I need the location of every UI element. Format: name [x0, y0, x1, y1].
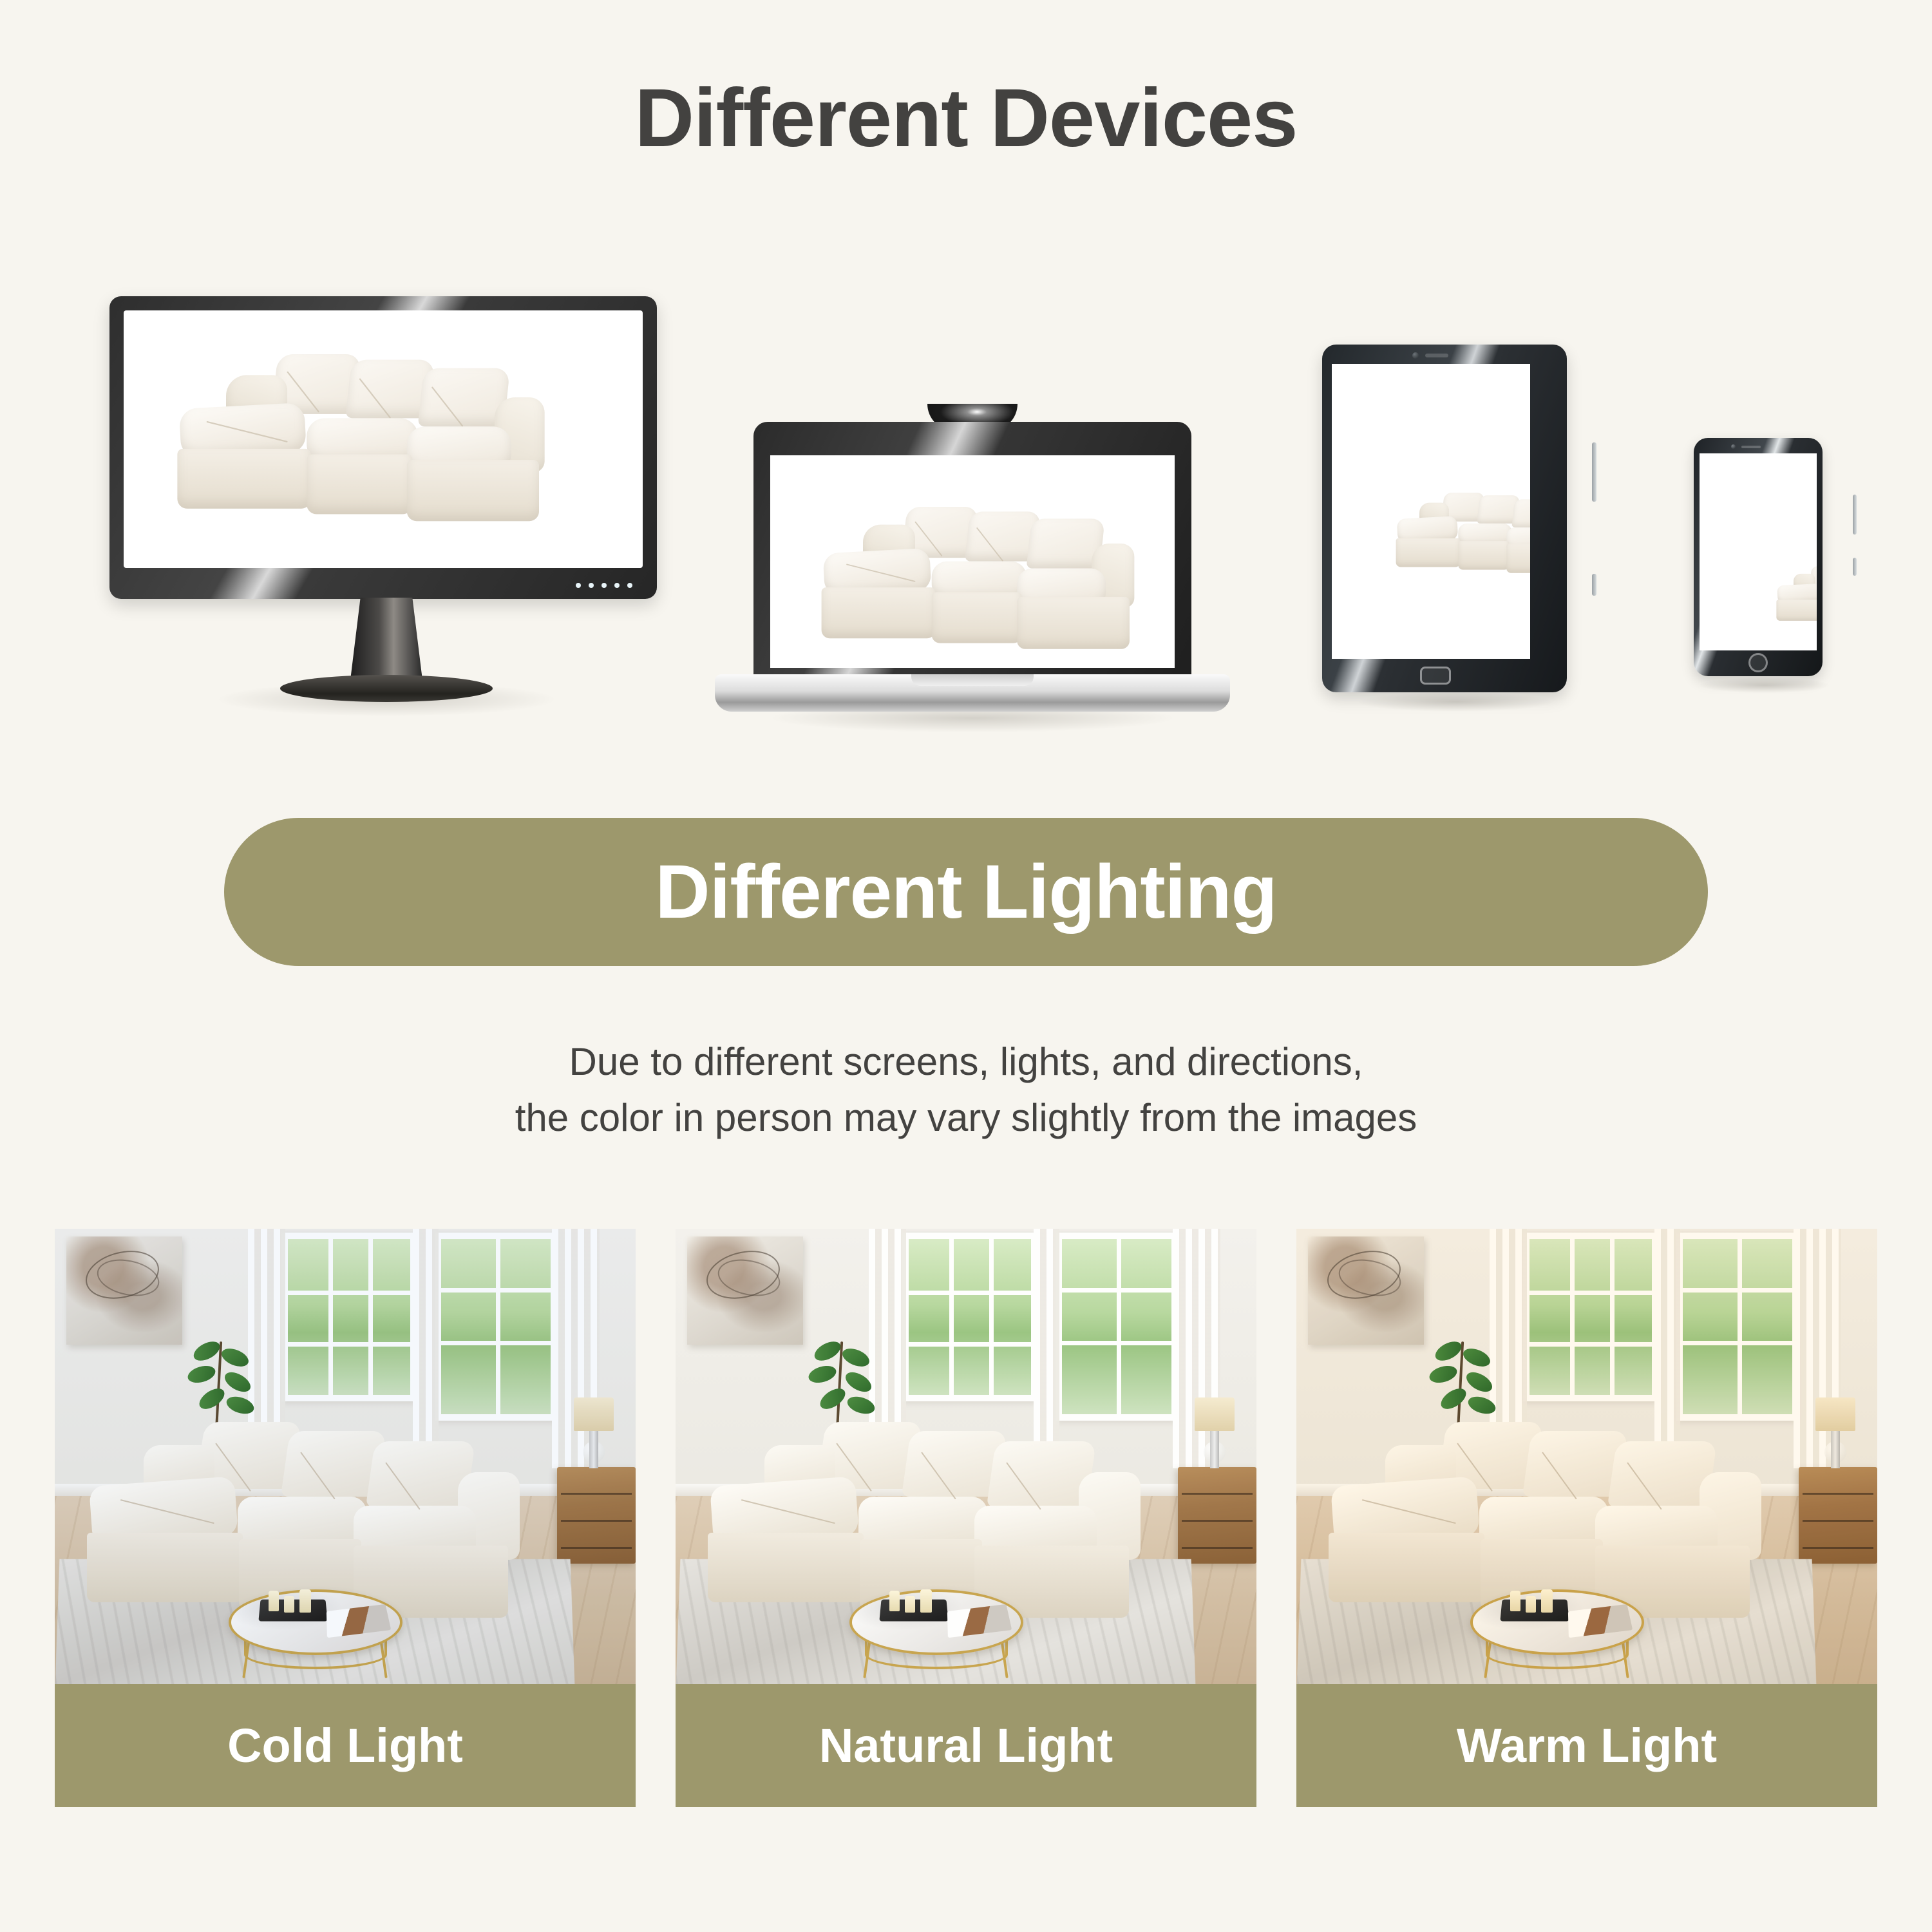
lighting-banner-label: Different Lighting: [655, 848, 1276, 936]
window-right: [1056, 1233, 1178, 1421]
phone-screen: [1700, 453, 1817, 650]
tablet-camera-icon: [1412, 352, 1419, 359]
phone-home-button[interactable]: [1748, 653, 1768, 672]
sofa-illustration-phone: [1774, 567, 1817, 628]
window-left: [1523, 1233, 1658, 1401]
panel-label-warm: Warm Light: [1296, 1684, 1877, 1807]
curtain-middle: [1654, 1229, 1680, 1448]
description-line-2: the color in person may vary slightly fr…: [0, 1090, 1932, 1146]
tablet-speaker-icon: [1425, 354, 1448, 357]
monitor-led-indicators: [576, 583, 632, 588]
monitor-bezel: [109, 296, 657, 599]
wall-art: [66, 1236, 182, 1345]
wall-art: [1308, 1236, 1424, 1345]
panel-label-text: Natural Light: [819, 1718, 1113, 1773]
lighting-panel-cold: Cold Light: [55, 1229, 636, 1807]
table-lamp-shade: [1195, 1397, 1235, 1431]
devices-title: Different Devices: [0, 77, 1932, 160]
laptop-lid: [753, 422, 1191, 679]
device-desktop-monitor: [97, 296, 676, 734]
coffee-table: [229, 1589, 402, 1680]
lighting-panel-warm: Warm Light: [1296, 1229, 1877, 1807]
phone-speaker-icon: [1741, 446, 1761, 448]
room-photo-cold: [55, 1229, 636, 1686]
phone-power-button[interactable]: [1853, 558, 1857, 576]
room-photo-natural: [676, 1229, 1256, 1686]
phone-camera-icon: [1731, 444, 1736, 449]
phone-volume-button[interactable]: [1853, 495, 1857, 535]
tablet-screen: [1332, 364, 1530, 659]
table-lamp-stem: [589, 1431, 598, 1468]
lighting-description: Due to different screens, lights, and di…: [0, 1034, 1932, 1146]
coffee-table: [849, 1589, 1023, 1680]
sideboard: [557, 1467, 636, 1564]
monitor-stand-neck: [350, 598, 422, 680]
laptop-screen: [770, 455, 1175, 668]
panel-label-cold: Cold Light: [55, 1684, 636, 1807]
panel-label-text: Cold Light: [227, 1718, 463, 1773]
sofa-illustration-monitor: [171, 354, 560, 528]
infographic-page: Different Devices: [0, 0, 1932, 1932]
curtain-middle: [1034, 1229, 1059, 1448]
window-left: [281, 1233, 417, 1401]
room-scene: [55, 1229, 636, 1686]
tablet-shadow: [1359, 692, 1552, 712]
curtain-middle: [413, 1229, 439, 1448]
window-right: [435, 1233, 557, 1421]
laptop-trackpad-notch: [911, 674, 1034, 686]
sideboard: [1178, 1467, 1256, 1564]
table-lamp-stem: [1210, 1431, 1219, 1468]
wall-art: [687, 1236, 803, 1345]
sideboard: [1799, 1467, 1877, 1564]
lighting-banner: Different Lighting: [224, 818, 1708, 966]
tablet-power-button[interactable]: [1592, 574, 1596, 596]
room-scene: [1296, 1229, 1877, 1686]
window-right: [1676, 1233, 1799, 1421]
phone-bezel: [1694, 438, 1823, 676]
room-photo-warm: [1296, 1229, 1877, 1686]
device-smartphone: [1674, 438, 1855, 721]
monitor-screen: [124, 310, 643, 568]
panel-label-natural: Natural Light: [676, 1684, 1256, 1807]
room-scene: [676, 1229, 1256, 1686]
device-laptop: [715, 396, 1230, 744]
devices-row: [0, 283, 1932, 734]
sofa-illustration-laptop: [815, 507, 1147, 655]
lighting-panel-natural: Natural Light: [676, 1229, 1256, 1807]
tablet-bezel: [1322, 345, 1567, 692]
table-lamp-stem: [1831, 1431, 1840, 1468]
window-left: [902, 1233, 1037, 1401]
description-line-1: Due to different screens, lights, and di…: [0, 1034, 1932, 1090]
lighting-panels: Cold Light: [0, 1229, 1932, 1808]
tablet-home-button[interactable]: [1420, 667, 1451, 685]
sofa-illustration-tablet: [1392, 493, 1530, 576]
table-lamp-shade: [1815, 1397, 1855, 1431]
table-lamp-shade: [574, 1397, 614, 1431]
device-tablet: [1317, 345, 1594, 718]
phone-shadow: [1700, 677, 1829, 693]
coffee-table: [1470, 1589, 1644, 1680]
tablet-volume-button[interactable]: [1592, 442, 1596, 502]
monitor-stand-base: [280, 675, 493, 702]
panel-label-text: Warm Light: [1457, 1718, 1717, 1773]
